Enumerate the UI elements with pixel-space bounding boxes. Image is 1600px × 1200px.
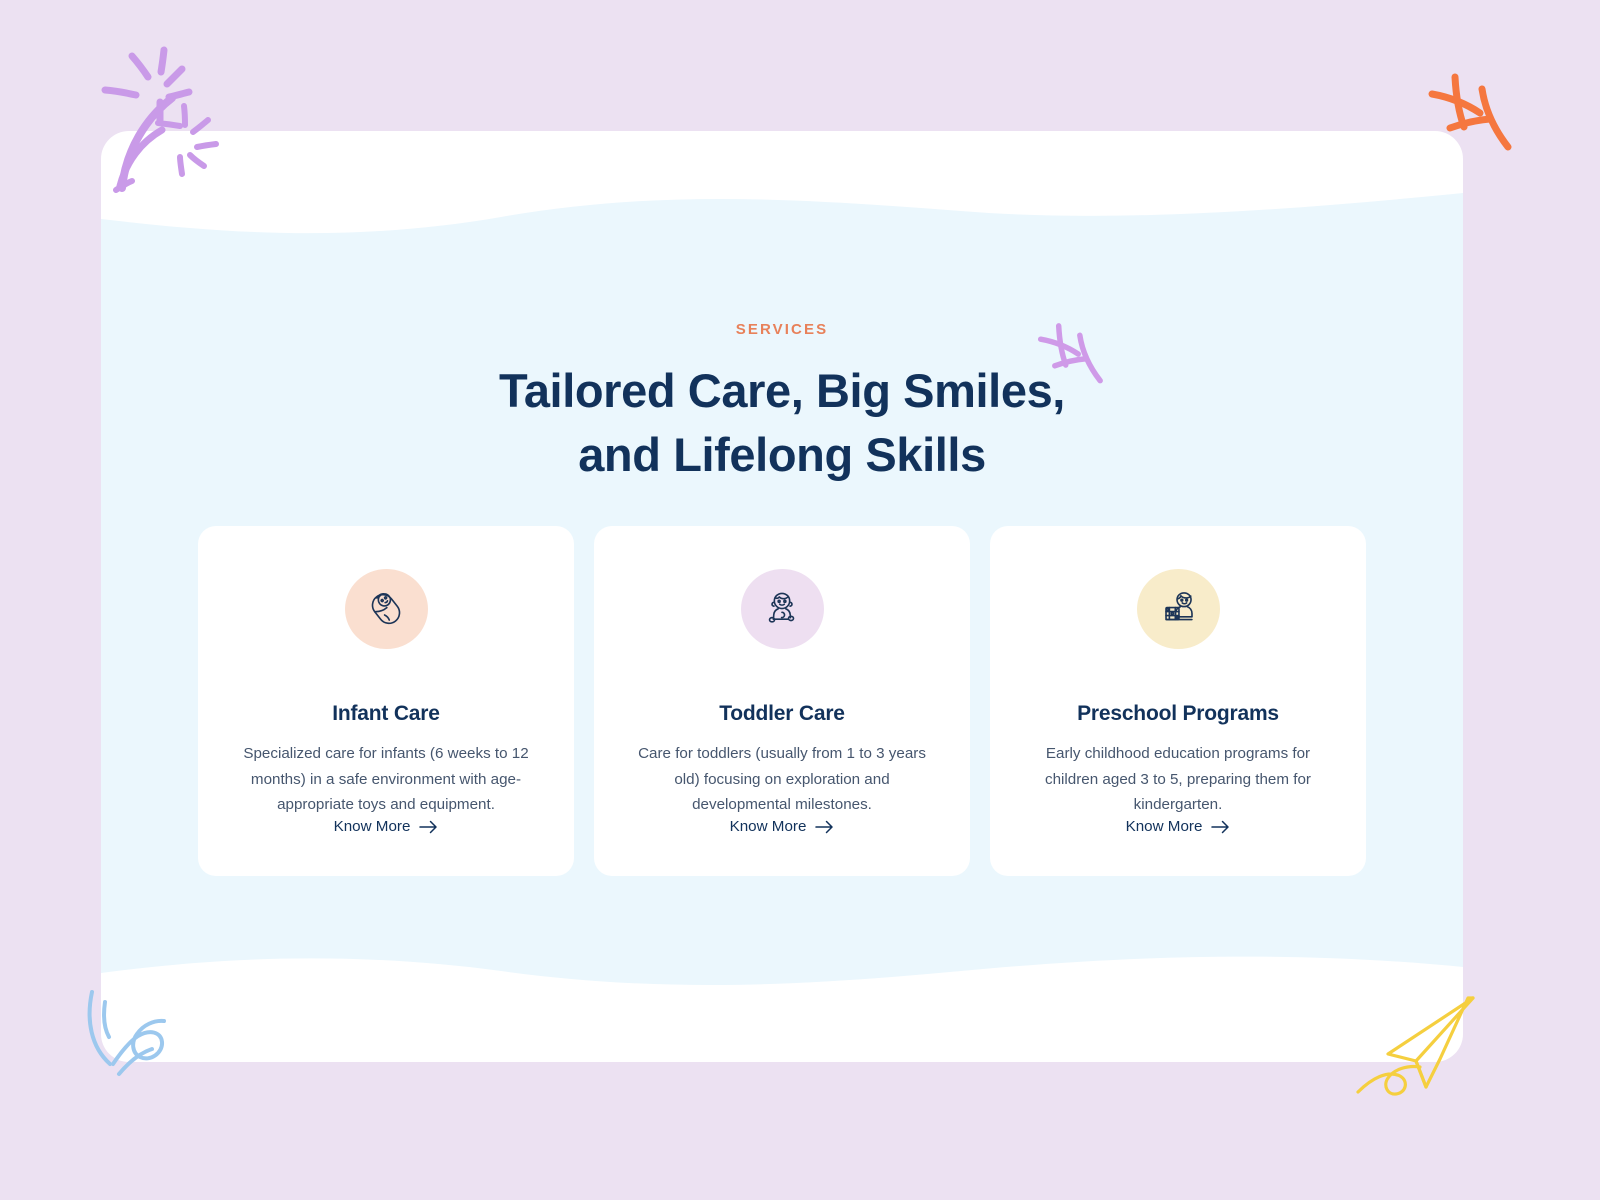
swaddled-baby-icon: [363, 586, 409, 632]
section-eyebrow: SERVICES: [101, 321, 1463, 338]
arrow-right-icon: [1211, 820, 1230, 834]
know-more-label: Know More: [334, 818, 411, 835]
service-card[interactable]: Preschool Programs Early childhood educa…: [990, 526, 1366, 876]
know-more-link[interactable]: Know More: [334, 818, 439, 835]
services-section: SERVICES Tailored Care, Big Smiles, and …: [101, 131, 1463, 1062]
arrow-right-icon: [815, 820, 834, 834]
know-more-link[interactable]: Know More: [730, 818, 835, 835]
service-card-description: Specialized care for infants (6 weeks to…: [236, 741, 536, 818]
service-card-description: Early childhood education programs for c…: [1028, 741, 1328, 818]
service-card-description: Care for toddlers (usually from 1 to 3 y…: [632, 741, 932, 818]
icon-badge: [1137, 569, 1220, 649]
page-title: Tailored Care, Big Smiles, and Lifelong …: [101, 359, 1463, 487]
arrow-right-icon: [419, 820, 438, 834]
icon-badge: [741, 569, 824, 649]
service-card-title: Preschool Programs: [1077, 702, 1279, 726]
know-more-label: Know More: [1126, 818, 1203, 835]
service-card-title: Toddler Care: [719, 702, 845, 726]
service-card-title: Infant Care: [332, 702, 440, 726]
service-card[interactable]: Infant Care Specialized care for infants…: [198, 526, 574, 876]
icon-badge: [345, 569, 428, 649]
service-card-list: Infant Care Specialized care for infants…: [198, 526, 1366, 876]
know-more-link[interactable]: Know More: [1126, 818, 1231, 835]
know-more-label: Know More: [730, 818, 807, 835]
service-card[interactable]: Toddler Care Care for toddlers (usually …: [594, 526, 970, 876]
sitting-toddler-icon: [759, 586, 805, 632]
child-abacus-icon: [1155, 586, 1201, 632]
